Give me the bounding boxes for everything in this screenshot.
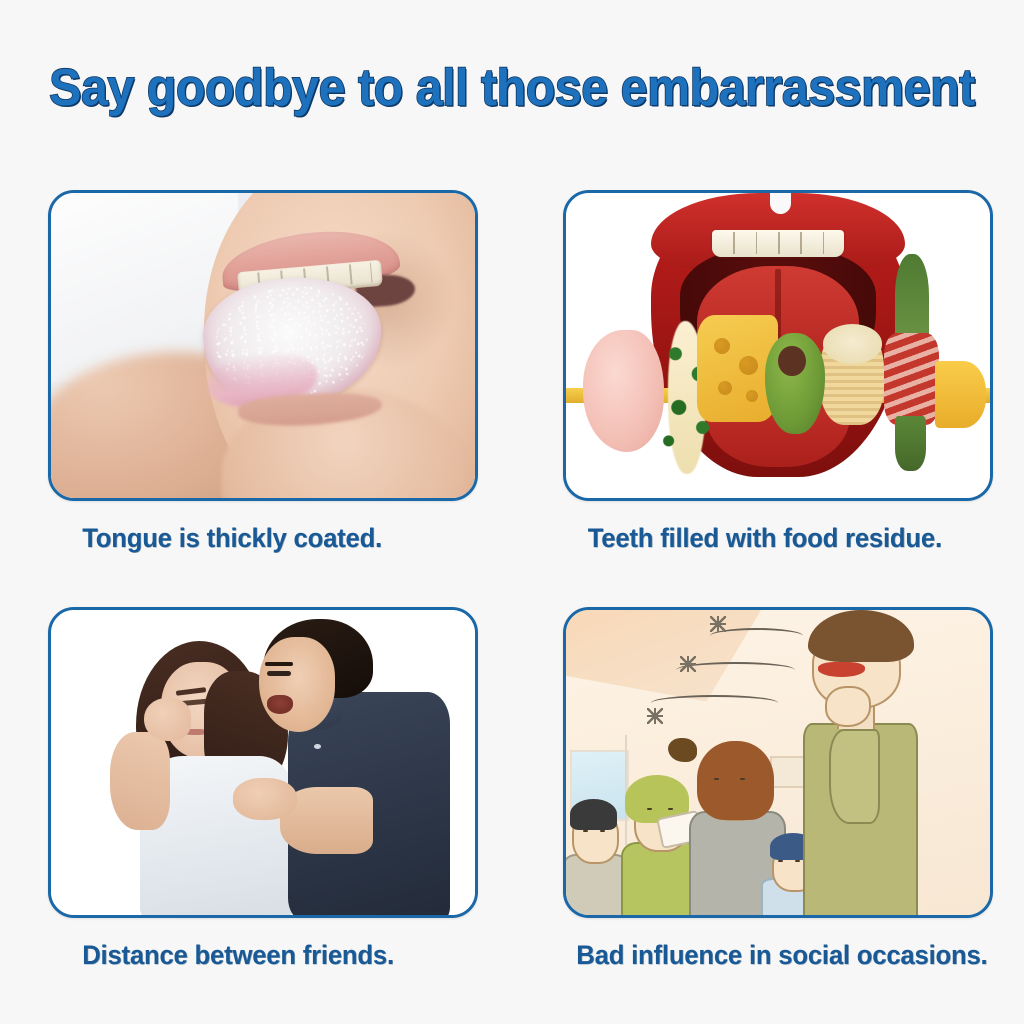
couple-bad-breath-photo xyxy=(51,610,475,915)
panel-distance-friends[interactable]: Distance between friends. xyxy=(48,607,478,971)
mouth-food-skewer-illustration xyxy=(566,193,990,498)
panel-frame xyxy=(563,190,993,501)
crowd-bad-breath-cartoon xyxy=(566,610,990,915)
panel-food-residue[interactable]: Teeth filled with food residue. xyxy=(563,190,993,554)
panel-frame xyxy=(563,607,993,918)
panel-social-occasions[interactable]: Bad influence in social occasions. xyxy=(563,607,993,971)
panel-caption: Tongue is thickly coated. xyxy=(48,523,457,554)
tongue-coated-photo xyxy=(51,193,475,498)
panel-frame xyxy=(48,190,478,501)
panel-caption: Teeth filled with food residue. xyxy=(563,523,972,554)
odor-sparkle-icon xyxy=(680,656,696,672)
odor-sparkle-icon xyxy=(647,708,663,724)
odor-sparkle-icon xyxy=(710,616,726,632)
page-title: Say goodbye to all those embarrassment xyxy=(36,58,988,118)
panel-tongue-coated[interactable]: Tongue is thickly coated. xyxy=(48,190,478,554)
panel-caption: Distance between friends. xyxy=(48,940,457,971)
panel-caption: Bad influence in social occasions. xyxy=(563,940,972,971)
panel-frame xyxy=(48,607,478,918)
panel-grid: Tongue is thickly coated. xyxy=(48,190,990,918)
